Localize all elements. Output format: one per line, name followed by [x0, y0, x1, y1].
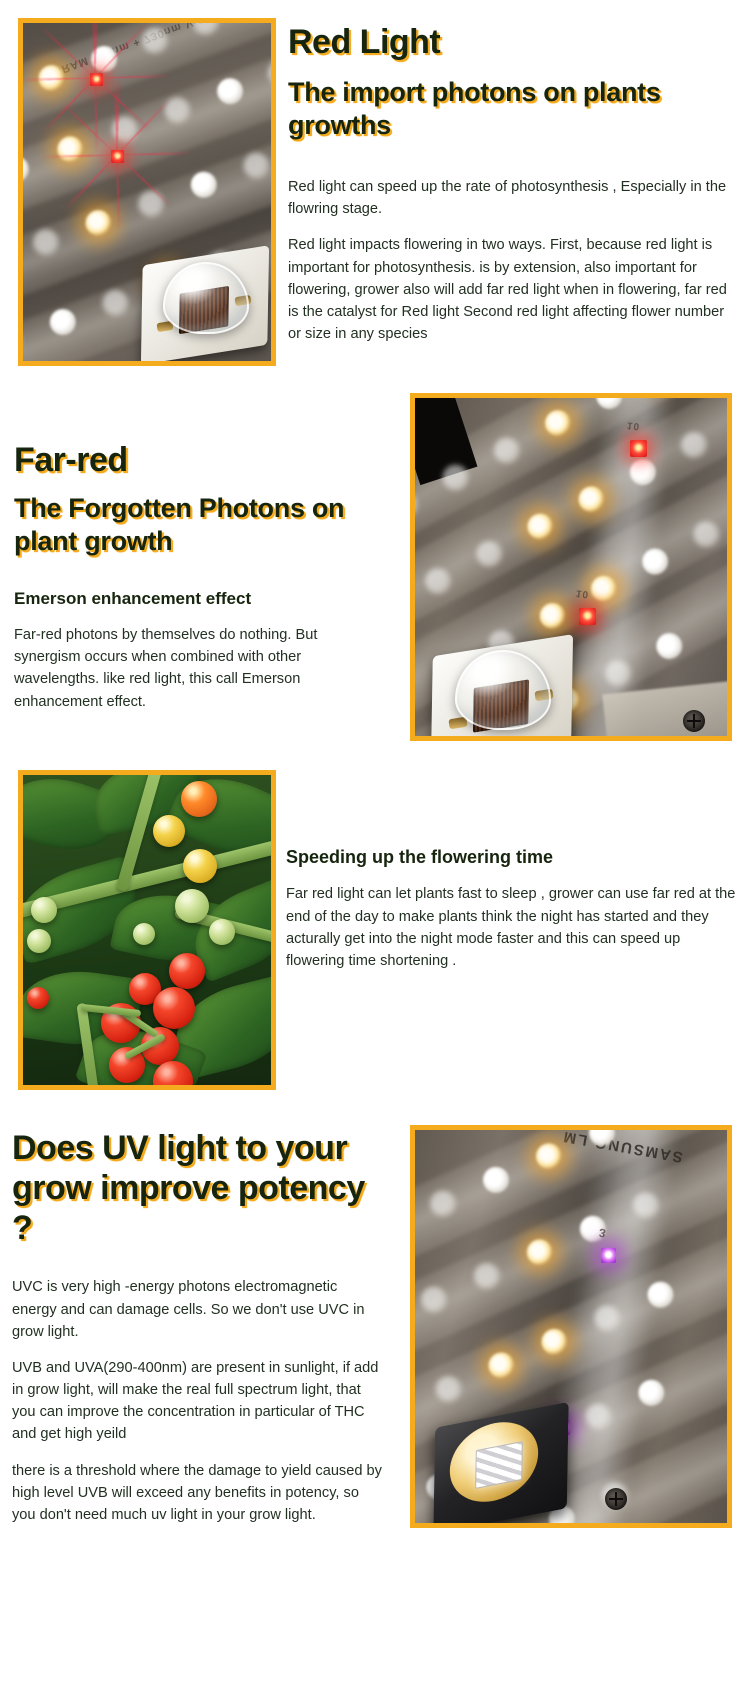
far-red-subtitle: The Forgotten Photons on plant growth — [14, 492, 386, 558]
uv-light-text-column: Does UV light to your grow improve poten… — [12, 1128, 384, 1526]
red-light-paragraph: Red light impacts flowering in two ways.… — [288, 234, 732, 345]
chip-marking: 10 — [626, 419, 640, 431]
led-emitter-package — [141, 256, 269, 354]
flowering-time-heading: Speeding up the flowering time — [286, 846, 736, 869]
emerson-effect-heading: Emerson enhancement effect — [14, 588, 386, 610]
red-light-subtitle: The import photons on plants growths — [288, 76, 732, 142]
far-red-title: Far-red — [14, 440, 386, 480]
uv-led-chip — [601, 1248, 616, 1263]
red-led-chip — [90, 73, 103, 86]
led-emitter-package — [431, 646, 573, 736]
chip-marking: 10 — [575, 587, 589, 599]
uv-led-emitter-package — [433, 1416, 569, 1520]
uv-led-board-photo: SAMSUNG LM — [415, 1130, 727, 1523]
red-led-board-image: OSRAM 660nm + 730nm V:83-119 — [18, 18, 276, 366]
far-red-led-board-photo: 10 10 — [415, 398, 727, 736]
tomato-plant-photo — [23, 775, 271, 1085]
red-light-text-column: Red Light The import photons on plants g… — [288, 22, 732, 345]
red-light-paragraph: Red light can speed up the rate of photo… — [288, 176, 732, 220]
red-led-board-photo: OSRAM 660nm + 730nm V:83-119 — [23, 23, 271, 361]
far-red-led-chip — [579, 608, 596, 625]
uv-light-paragraph: there is a threshold where the damage to… — [12, 1460, 384, 1527]
far-red-text-column: Far-red The Forgotten Photons on plant g… — [14, 440, 386, 713]
uv-light-paragraph: UVC is very high -energy photons electro… — [12, 1276, 384, 1343]
flowering-time-paragraph: Far red light can let plants fast to sle… — [286, 883, 736, 972]
red-led-chip — [111, 150, 124, 163]
red-light-title: Red Light — [288, 22, 732, 62]
far-red-led-board-image: 10 10 — [410, 393, 732, 741]
flowering-time-text-column: Speeding up the flowering time Far red l… — [286, 846, 736, 972]
uv-light-title: Does UV light to your grow improve poten… — [12, 1128, 384, 1248]
screw-icon — [683, 710, 705, 732]
tomato-plant-image — [18, 770, 276, 1090]
infographic-page: OSRAM 660nm + 730nm V:83-119 — [0, 0, 750, 1703]
far-red-led-chip — [630, 440, 647, 457]
uv-led-board-image: SAMSUNG LM — [410, 1125, 732, 1528]
uv-light-paragraph: UVB and UVA(290-400nm) are present in su… — [12, 1357, 384, 1446]
screw-icon — [605, 1488, 627, 1510]
far-red-paragraph: Far-red photons by themselves do nothing… — [14, 624, 386, 713]
